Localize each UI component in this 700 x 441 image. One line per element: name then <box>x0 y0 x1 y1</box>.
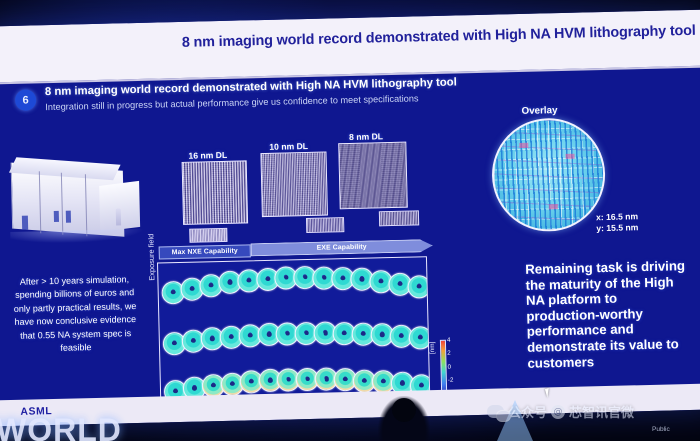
pupil-center <box>191 339 196 343</box>
left-paragraph: After > 10 years simulation, spending bi… <box>9 273 141 356</box>
sem-pattern <box>190 229 226 242</box>
pupil-center <box>341 276 346 280</box>
pupil-center <box>399 334 404 338</box>
pupil-center <box>322 275 327 279</box>
pupil-center <box>284 275 289 279</box>
colorbar-tick: 0 <box>447 364 453 370</box>
pupil-center <box>230 381 235 385</box>
pupil-center <box>285 331 290 335</box>
max-nxe-capability-bar: Max NXE Capability <box>159 244 251 259</box>
wafer-hotspot <box>519 143 528 148</box>
sem-thumb-8nm <box>379 210 419 226</box>
pupil-center <box>228 280 233 284</box>
pupil-center <box>360 277 365 281</box>
tool-panel <box>22 216 28 230</box>
scale-figure <box>116 208 121 225</box>
overlay-wafer-map <box>491 117 607 233</box>
pupil-center <box>324 377 329 381</box>
wafer-hotspot <box>566 154 575 159</box>
pupil-center <box>287 377 292 381</box>
sem-pattern <box>307 218 343 232</box>
slide-canvas: 8 nm imaging world record demonstrated w… <box>0 9 700 426</box>
pupil-center <box>192 386 197 390</box>
tool-floor-glow <box>10 229 142 244</box>
sem-pattern <box>380 211 418 225</box>
wavefront-pupil-map <box>408 326 430 350</box>
sem-thumb-10nm <box>306 217 344 233</box>
colorbar-unit-label: [nm] <box>429 342 436 355</box>
wavefront-chart <box>157 256 430 410</box>
pupil-center <box>171 290 176 294</box>
status-badge: 6 <box>15 89 36 110</box>
pupil-center <box>400 381 405 385</box>
audience-silhouette <box>378 396 430 441</box>
wafer-overlay-vectors <box>493 119 605 231</box>
tool-panel <box>66 211 71 223</box>
wechat-icon <box>487 405 504 418</box>
wavefront-row <box>158 261 427 301</box>
pupil-center <box>190 286 195 290</box>
sem-thumb-16nm <box>189 228 227 243</box>
exe-capability-bar: EXE Capability <box>251 239 433 256</box>
pupil-center <box>303 275 308 279</box>
overlay-title: Overlay <box>521 105 557 117</box>
pupil-center <box>417 284 422 288</box>
wavefront-pupil-map <box>407 275 430 299</box>
wavefront-y-axis-label: Exposure field <box>146 234 156 281</box>
pupil-center <box>304 331 309 335</box>
sem-noise <box>339 143 406 209</box>
weibo-icon: @ <box>551 405 565 419</box>
pupil-center <box>249 380 254 384</box>
sem-label-10nm: 10 nm DL <box>269 141 308 152</box>
sem-image-16nm <box>182 160 248 225</box>
overlay-x-value: x: 16.5 nm <box>596 211 638 222</box>
sem-label-16nm: 16 nm DL <box>188 150 227 161</box>
colorbar-tick: 4 <box>447 338 453 344</box>
pupil-center <box>343 377 348 381</box>
pupil-center <box>380 333 385 337</box>
overlay-y-value: y: 15.5 nm <box>596 222 638 233</box>
pupil-center <box>211 383 216 387</box>
pupil-center <box>323 331 328 335</box>
watermark: 公众号 @ 芯智讯官微 <box>487 402 634 421</box>
stage-banner-text: WORLD <box>0 412 122 441</box>
lithography-tool-render <box>8 151 144 246</box>
page-title: 8 nm imaging world record demonstrated w… <box>114 23 696 53</box>
conference-photo: 8 nm imaging world record demonstrated w… <box>0 0 700 441</box>
sem-image-8nm <box>338 142 408 210</box>
wavefront-row <box>159 311 428 351</box>
right-paragraph: Remaining task is driving the maturity o… <box>525 258 688 371</box>
pupil-center <box>209 283 214 287</box>
pupil-center <box>305 377 310 381</box>
sem-label-8nm: 8 nm DL <box>349 131 383 142</box>
pupil-center <box>419 383 424 387</box>
pupil-center <box>342 331 347 335</box>
pupil-center <box>361 332 366 336</box>
pupil-center <box>248 333 253 337</box>
sem-image-10nm <box>260 152 327 218</box>
pupil-center <box>210 337 215 341</box>
pupil-center <box>268 378 273 382</box>
watermark-subtext: Public <box>652 426 670 433</box>
pupil-center <box>267 332 272 336</box>
pupil-center <box>246 278 251 282</box>
watermark-weibo-text: 芯智讯官微 <box>569 402 634 421</box>
pupil-center <box>398 281 403 285</box>
pupil-center <box>173 389 178 393</box>
projected-slide: 8 nm imaging world record demonstrated w… <box>0 9 700 426</box>
colorbar-tick: -2 <box>448 378 454 384</box>
pupil-center <box>362 378 367 382</box>
pupil-center <box>229 335 234 339</box>
watermark-wechat-text: 公众号 <box>508 402 547 421</box>
pupil-center <box>265 276 270 280</box>
pupil-center <box>418 335 423 339</box>
colorbar-tick: 2 <box>447 351 453 357</box>
pupil-center <box>381 379 386 383</box>
tool-panel <box>54 211 59 222</box>
pupil-center <box>172 341 177 345</box>
pupil-center <box>379 279 384 283</box>
sem-noise <box>183 161 247 223</box>
sem-noise <box>261 153 326 216</box>
wafer-hotspot <box>549 204 558 209</box>
